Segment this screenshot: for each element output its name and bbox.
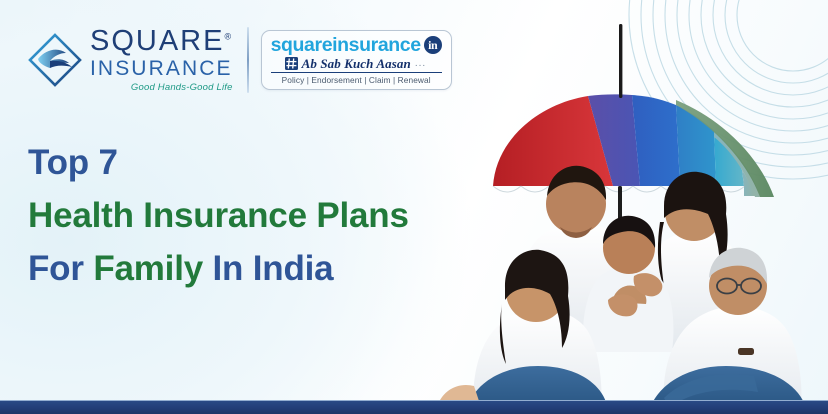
headline-family: Family [93,249,203,288]
services-list: Policy | Endorsement | Claim | Renewal [271,75,442,85]
hash-icon [285,57,298,70]
squareinsurance-brand-text: squareinsurance [271,36,421,56]
in-domain-badge: in [424,36,442,54]
family-under-umbrella-photo [408,0,828,414]
bottom-accent-bar [0,400,828,414]
headline-line-1: Top 7 [28,136,409,189]
headline-line-3: For Family In India [28,242,409,295]
slogan-ellipsis: ... [415,58,426,69]
square-insurance-logo[interactable]: SQUARE® INSURANCE Good Hands-Good Life [24,27,233,93]
insurance-banner: SQUARE® INSURANCE Good Hands-Good Life s… [0,0,828,414]
headline-top7: Top 7 [28,143,118,182]
header-logos: SQUARE® INSURANCE Good Hands-Good Life s… [24,14,452,106]
headline-in-india: In India [203,249,333,288]
slogan-text: Ab Sab Kuch Aasan [302,57,411,70]
logo-divider [247,27,249,93]
logo-tagline: Good Hands-Good Life [90,82,233,93]
logo-insurance-text: INSURANCE [90,57,233,81]
squareinsurance-in-logo[interactable]: squareinsurance in Ab Sab Kuch Aasan ... [261,30,452,91]
square-diamond-bird-logo-icon [24,29,86,91]
headline-health-insurance-plans: Health Insurance Plans [28,196,409,235]
headline-line-2: Health Insurance Plans [28,189,409,242]
logo-rule [271,72,442,73]
registered-mark: ® [224,31,231,41]
headline-block: Top 7 Health Insurance Plans For Family … [28,136,409,296]
headline-for: For [28,249,93,288]
logo-square-text: SQUARE® [90,27,233,56]
